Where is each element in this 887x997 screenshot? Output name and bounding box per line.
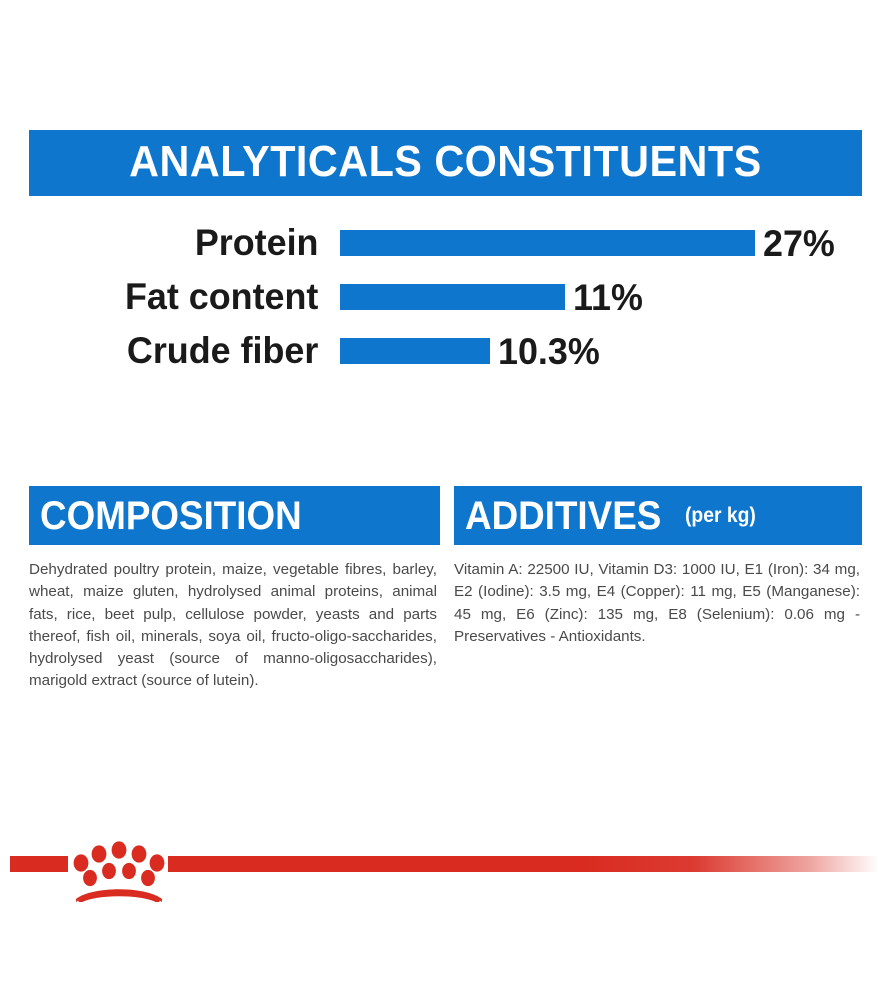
additives-body-text: Vitamin A: 22500 IU, Vitamin D3: 1000 IU…: [454, 559, 862, 648]
banner-title-text: ANALYTICALS CONSTITUENTS: [129, 137, 761, 187]
bar-group: 11%: [340, 270, 645, 324]
banner-title: ANALYTICALS CONSTITUENTS: [29, 137, 862, 187]
chart-row: Protein 27%: [0, 216, 887, 270]
bar-group: 27%: [340, 216, 837, 270]
bar-label: Crude fiber: [40, 324, 318, 378]
chart-row: Crude fiber 10.3%: [0, 324, 887, 378]
bar-value-label: 10.3%: [498, 333, 600, 370]
bar-group: 10.3%: [340, 324, 603, 378]
footer: [0, 836, 887, 916]
composition-header: COMPOSITION: [29, 486, 440, 545]
analytical-constituents-banner: ANALYTICALS CONSTITUENTS: [29, 130, 862, 196]
royal-canin-crown-logo: [72, 836, 166, 902]
additives-header: ADDITIVES (per kg): [454, 486, 862, 545]
analytical-constituents-chart: Protein 27% Fat content 11% Crude fiber …: [0, 216, 887, 376]
bar-fill: [340, 338, 490, 364]
bar-fill: [340, 284, 565, 310]
bar-label-text: Fat content: [125, 270, 318, 324]
footer-rule-left: [10, 856, 68, 872]
product-info-panel: ANALYTICALS CONSTITUENTS Protein 27% Fat…: [0, 0, 887, 997]
bar-label: Fat content: [40, 270, 318, 324]
bar-label-text: Crude fiber: [127, 324, 318, 378]
additives-header-unit: (per kg): [685, 505, 756, 526]
bar-label: Protein: [40, 216, 318, 270]
additives-header-title: ADDITIVES: [465, 496, 661, 536]
bar-value-label: 27%: [763, 225, 835, 262]
composition-body-text: Dehydrated poultry protein, maize, veget…: [29, 559, 439, 693]
bar-value-label: 11%: [573, 279, 643, 316]
composition-header-title: COMPOSITION: [40, 496, 302, 536]
bar-label-text: Protein: [194, 216, 318, 270]
composition-section: COMPOSITION Dehydrated poultry protein, …: [29, 486, 440, 693]
footer-rule-right: [168, 856, 879, 872]
chart-row: Fat content 11%: [0, 270, 887, 324]
additives-section: ADDITIVES (per kg) Vitamin A: 22500 IU, …: [454, 486, 862, 648]
bar-fill: [340, 230, 755, 256]
